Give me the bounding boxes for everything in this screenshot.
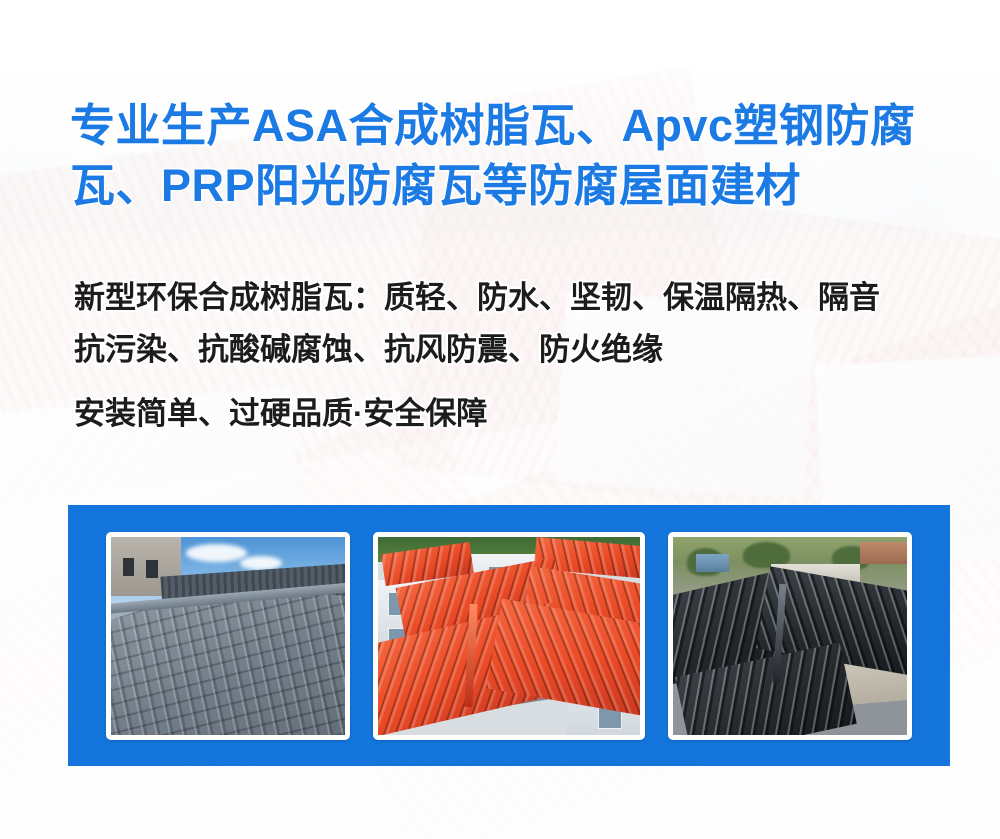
grey-resin-tile-roof-photo [111, 537, 345, 735]
gallery-thumbnail-grey-roof[interactable]: 灰色合成树脂瓦屋面实景 [106, 532, 350, 740]
subcopy-line-3: 安装简单、过硬品质·安全保障 [74, 388, 964, 440]
red-resin-tile-roof-photo [378, 537, 640, 735]
product-banner: 专业生产ASA合成树脂瓦、Apvc塑钢防腐瓦、PRP阳光防腐瓦等防腐屋面建材 新… [0, 0, 1000, 839]
banner-headline: 专业生产ASA合成树脂瓦、Apvc塑钢防腐瓦、PRP阳光防腐瓦等防腐屋面建材 [70, 96, 950, 216]
banner-subcopy: 新型环保合成树脂瓦：质轻、防水、坚韧、保温隔热、隔音 抗污染、抗酸碱腐蚀、抗风防… [74, 272, 964, 440]
gallery-thumbnail-black-roof[interactable]: 黑色合成树脂瓦屋面实景 [668, 532, 912, 740]
black-resin-tile-roof-photo [673, 537, 907, 735]
gallery-thumbnail-red-roof[interactable]: 红色合成树脂瓦屋面实景 [373, 532, 645, 740]
subcopy-line-2: 抗污染、抗酸碱腐蚀、抗风防震、防火绝缘 [74, 324, 964, 376]
subcopy-line-1: 新型环保合成树脂瓦：质轻、防水、坚韧、保温隔热、隔音 [74, 272, 964, 324]
product-photo-gallery: 灰色合成树脂瓦屋面实景 [68, 505, 950, 766]
